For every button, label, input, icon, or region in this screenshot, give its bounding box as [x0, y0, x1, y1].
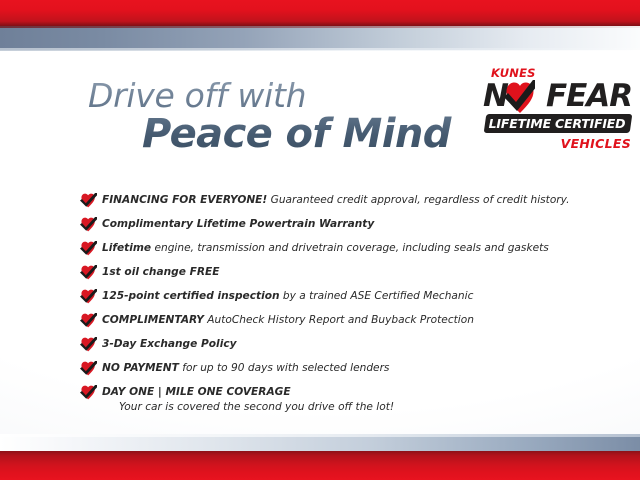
heart-check-icon — [80, 193, 97, 208]
benefit-item: COMPLIMENTARY AutoCheck History Report a… — [80, 312, 580, 332]
heart-check-icon — [80, 313, 97, 328]
benefit-text-emphasis: Complimentary Lifetime Powertrain Warran… — [102, 218, 374, 230]
benefit-text: NO PAYMENT for up to 90 days with select… — [102, 360, 580, 376]
benefit-item: 1st oil change FREE — [80, 264, 580, 284]
benefit-text: 1st oil change FREE — [102, 264, 580, 280]
benefit-item: Complimentary Lifetime Powertrain Warran… — [80, 216, 580, 236]
benefit-text-emphasis: DAY ONE | MILE ONE COVERAGE — [102, 386, 291, 398]
benefit-subtext: Your car is covered the second you drive… — [102, 400, 580, 415]
logo-bar-text: LIFETIME CERTIFIED — [483, 114, 631, 133]
headline-line-1: Drive off with — [88, 78, 468, 114]
top-red-band — [0, 0, 640, 26]
benefit-text: 3-Day Exchange Policy — [102, 336, 580, 352]
benefit-item: NO PAYMENT for up to 90 days with select… — [80, 360, 580, 380]
benefit-text: DAY ONE | MILE ONE COVERAGE — [102, 384, 580, 400]
advertisement-banner: Drive off with Peace of Mind KUNES NxxFE… — [0, 0, 640, 480]
logo-footer-text: VEHICLES — [561, 136, 631, 151]
headline-line-2: Peace of Mind — [142, 112, 468, 156]
benefit-text-emphasis: 1st oil change FREE — [102, 266, 220, 278]
benefit-item: 125-point certified inspection by a trai… — [80, 288, 580, 308]
benefit-text: Lifetime engine, transmission and drivet… — [102, 240, 580, 256]
benefits-list: FINANCING FOR EVERYONE! Guaranteed credi… — [80, 192, 580, 419]
benefit-item: 3-Day Exchange Policy — [80, 336, 580, 356]
bottom-silver-band — [0, 434, 640, 451]
kunes-no-fear-logo: KUNES NxxFEAR LIFETIME CERTIFIED VEHICLE… — [483, 66, 633, 156]
top-silver-band — [0, 26, 640, 50]
heart-check-icon — [80, 265, 97, 280]
heart-check-icon — [80, 361, 97, 376]
benefit-text-emphasis: 125-point certified inspection — [102, 290, 280, 302]
logo-wordmark-suffix: FEAR — [546, 78, 632, 114]
benefit-text-emphasis: Lifetime — [102, 242, 151, 254]
benefit-text: Complimentary Lifetime Powertrain Warran… — [102, 216, 580, 232]
headline: Drive off with Peace of Mind — [88, 78, 468, 156]
benefit-item: FINANCING FOR EVERYONE! Guaranteed credi… — [80, 192, 580, 212]
benefit-text-detail: Guaranteed credit approval, regardless o… — [267, 194, 569, 206]
benefit-item: DAY ONE | MILE ONE COVERAGEYour car is c… — [80, 384, 580, 415]
heart-check-icon — [80, 385, 97, 400]
benefit-text-detail: engine, transmission and drivetrain cove… — [151, 242, 549, 254]
benefit-item: Lifetime engine, transmission and drivet… — [80, 240, 580, 260]
benefit-text: FINANCING FOR EVERYONE! Guaranteed credi… — [102, 192, 580, 208]
benefit-text-emphasis: FINANCING FOR EVERYONE! — [102, 194, 267, 206]
heart-check-icon — [505, 80, 535, 114]
heart-check-icon — [80, 289, 97, 304]
heart-check-icon — [80, 241, 97, 256]
benefit-text-detail: AutoCheck History Report and Buyback Pro… — [204, 314, 474, 326]
heart-check-icon — [80, 217, 97, 232]
heart-check-icon — [80, 337, 97, 352]
benefit-text-emphasis: NO PAYMENT — [102, 362, 179, 374]
benefit-text-detail: by a trained ASE Certified Mechanic — [280, 290, 474, 302]
benefit-text: COMPLIMENTARY AutoCheck History Report a… — [102, 312, 580, 328]
bottom-red-band — [0, 451, 640, 480]
benefit-text-emphasis: COMPLIMENTARY — [102, 314, 204, 326]
benefit-text: 125-point certified inspection by a trai… — [102, 288, 580, 304]
benefit-text-emphasis: 3-Day Exchange Policy — [102, 338, 237, 350]
benefit-text-detail: for up to 90 days with selected lenders — [179, 362, 390, 374]
